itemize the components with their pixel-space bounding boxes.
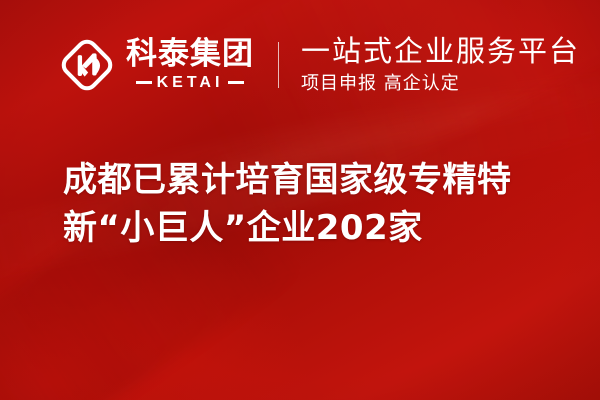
ketai-diamond-kt-monogram-icon bbox=[58, 36, 116, 94]
tagline-main: 一站式企业服务平台 bbox=[301, 36, 580, 67]
dash-rule-icon bbox=[136, 81, 152, 84]
dash-rule-icon bbox=[228, 81, 244, 84]
brand-lockup[interactable]: 科泰集团 KETAI bbox=[58, 36, 254, 94]
logo-latin-row: KETAI bbox=[126, 74, 254, 92]
logo-company-name-latin: KETAI bbox=[157, 74, 224, 92]
logo-wordmark: 科泰集团 KETAI bbox=[126, 38, 254, 92]
promo-banner: 科泰集团 KETAI 一站式企业服务平台 项目申报 高企认定 成都已累计培育国家… bbox=[0, 0, 600, 400]
logo-company-name-cn: 科泰集团 bbox=[126, 38, 254, 71]
tagline-block: 一站式企业服务平台 项目申报 高企认定 bbox=[301, 36, 580, 95]
page-title: 成都已累计培育国家级专精特新“小巨人”企业202家 bbox=[63, 156, 573, 252]
tagline-sub: 项目申报 高企认定 bbox=[301, 73, 580, 95]
banner-header: 科泰集团 KETAI 一站式企业服务平台 项目申报 高企认定 bbox=[0, 0, 600, 130]
vertical-divider-icon bbox=[278, 42, 279, 88]
